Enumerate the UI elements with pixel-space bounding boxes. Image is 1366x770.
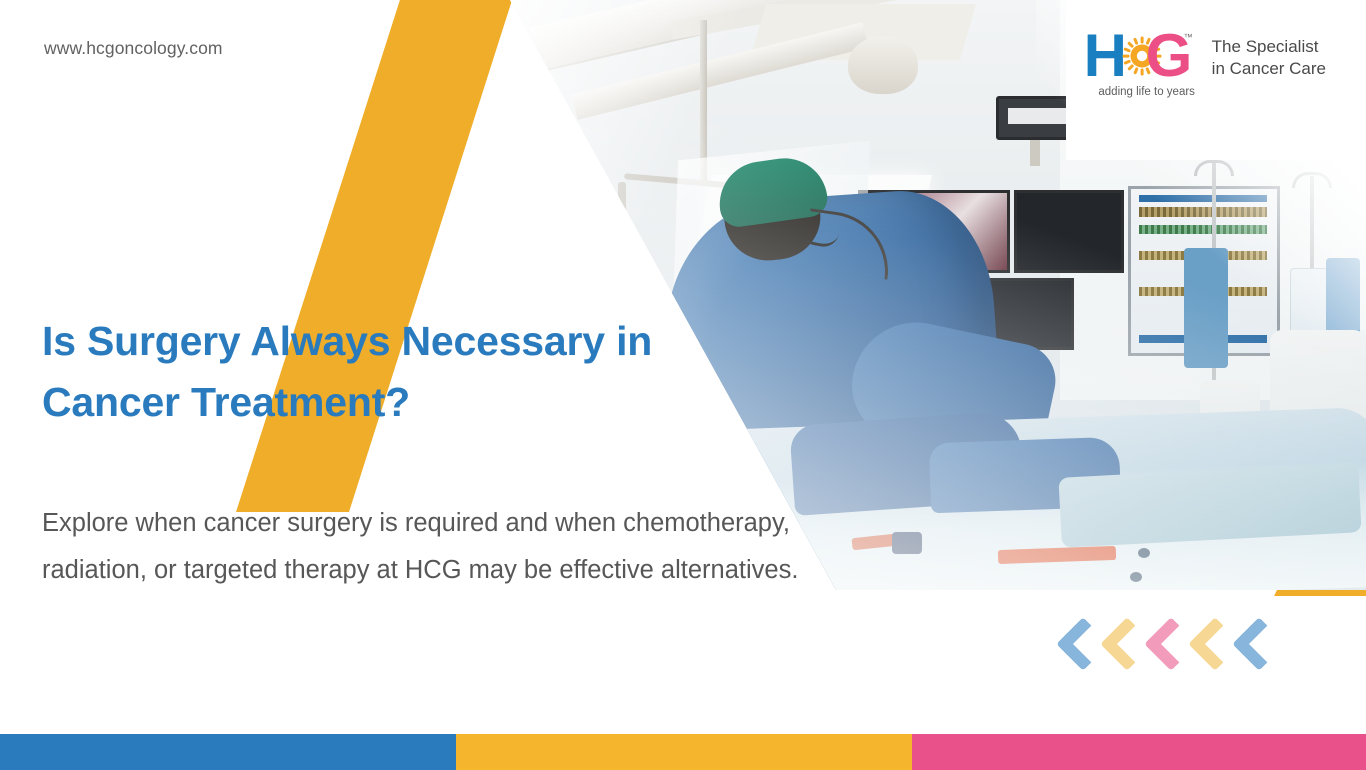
bar-segment-pink <box>912 734 1366 770</box>
banner-canvas: www.hcgoncology.com Is Surgery Always Ne… <box>0 0 1366 770</box>
site-url[interactable]: www.hcgoncology.com <box>44 38 223 59</box>
chevron-left-icon-1 <box>1056 616 1094 674</box>
bar-segment-yellow <box>456 734 912 770</box>
yellow-parallelogram-top-left <box>236 0 512 512</box>
bar-segment-blue <box>0 734 456 770</box>
chevron-left-icon-2 <box>1100 616 1138 674</box>
bottom-color-bar <box>0 734 1366 770</box>
trademark-icon: ™ <box>1184 32 1193 42</box>
logo-strapline: The Specialist in Cancer Care <box>1212 30 1326 81</box>
chevron-decoration <box>1056 616 1270 674</box>
page-title: Is Surgery Always Necessary in Cancer Tr… <box>42 311 662 433</box>
page-subtitle: Explore when cancer surgery is required … <box>42 500 832 595</box>
chevron-left-icon-5 <box>1232 616 1270 674</box>
hcg-logo[interactable]: H <box>1084 30 1326 102</box>
chevron-left-icon-4 <box>1188 616 1226 674</box>
chevron-left-icon-3 <box>1144 616 1182 674</box>
yellow-parallelogram-top-left-fill <box>237 0 512 512</box>
logo-tagline: adding life to years <box>1088 86 1206 98</box>
hcg-logo-mark: H <box>1084 30 1196 102</box>
